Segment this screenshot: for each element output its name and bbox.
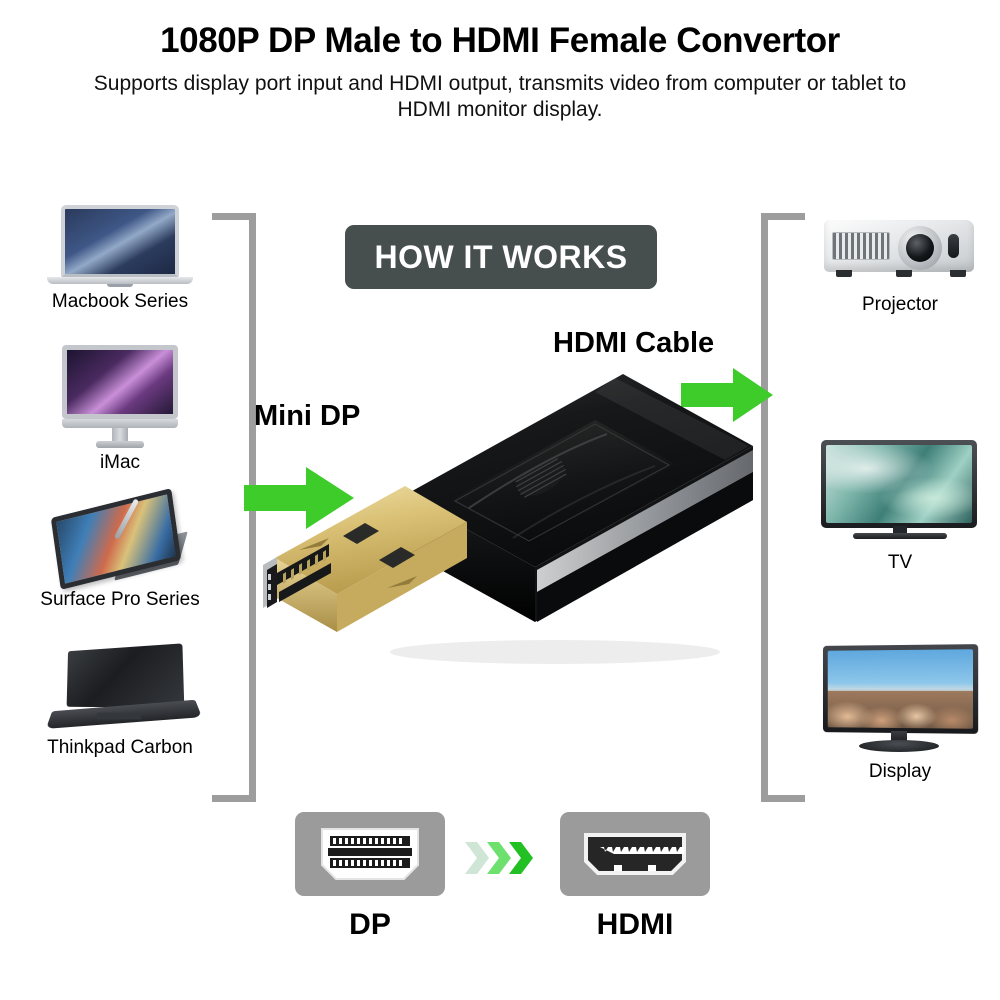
surface-pro-tablet-icon (40, 495, 200, 585)
how-it-works-banner: HOW IT WORKS (345, 225, 657, 289)
monitor-display-icon (815, 645, 985, 757)
macbook-laptop-icon (20, 205, 220, 287)
output-device-label: Display (800, 761, 1000, 783)
header: 1080P DP Male to HDMI Female Convertor S… (0, 22, 1000, 124)
output-device-label: Projector (800, 294, 1000, 316)
hdmi-cable-label: HDMI Cable (553, 327, 714, 360)
output-group-bracket (761, 213, 805, 802)
how-it-works-label: HOW IT WORKS (374, 239, 627, 276)
page-title: 1080P DP Male to HDMI Female Convertor (0, 22, 1000, 61)
output-device-tv: TV (800, 440, 1000, 574)
source-device-label: Thinkpad Carbon (20, 737, 220, 759)
imac-desktop-icon (20, 345, 220, 448)
page-subtitle: Supports display port input and HDMI out… (0, 71, 1000, 125)
television-icon (815, 440, 985, 548)
source-device-imac: iMac (20, 345, 220, 474)
output-device-label: TV (800, 552, 1000, 574)
source-device-label: Surface Pro Series (20, 589, 220, 611)
connector-block-hdmi: HDMI (560, 812, 710, 942)
source-device-label: iMac (20, 452, 220, 474)
output-device-display: Display (800, 645, 1000, 783)
source-device-thinkpad: Thinkpad Carbon (20, 645, 220, 759)
connector-label: DP (295, 908, 445, 942)
thinkpad-laptop-icon (35, 645, 205, 733)
output-device-projector: Projector (800, 210, 1000, 316)
source-device-macbook: Macbook Series (20, 205, 220, 313)
source-device-label: Macbook Series (20, 291, 220, 313)
source-device-surface-pro: Surface Pro Series (20, 495, 220, 611)
connector-label: HDMI (560, 908, 710, 942)
conversion-chevrons-icon (463, 838, 537, 878)
displayport-connector-icon (295, 812, 445, 896)
hdmi-connector-icon (560, 812, 710, 896)
dp-to-hdmi-adapter-photo (255, 360, 755, 680)
projector-icon (816, 210, 984, 290)
connector-block-dp: DP (295, 812, 445, 942)
